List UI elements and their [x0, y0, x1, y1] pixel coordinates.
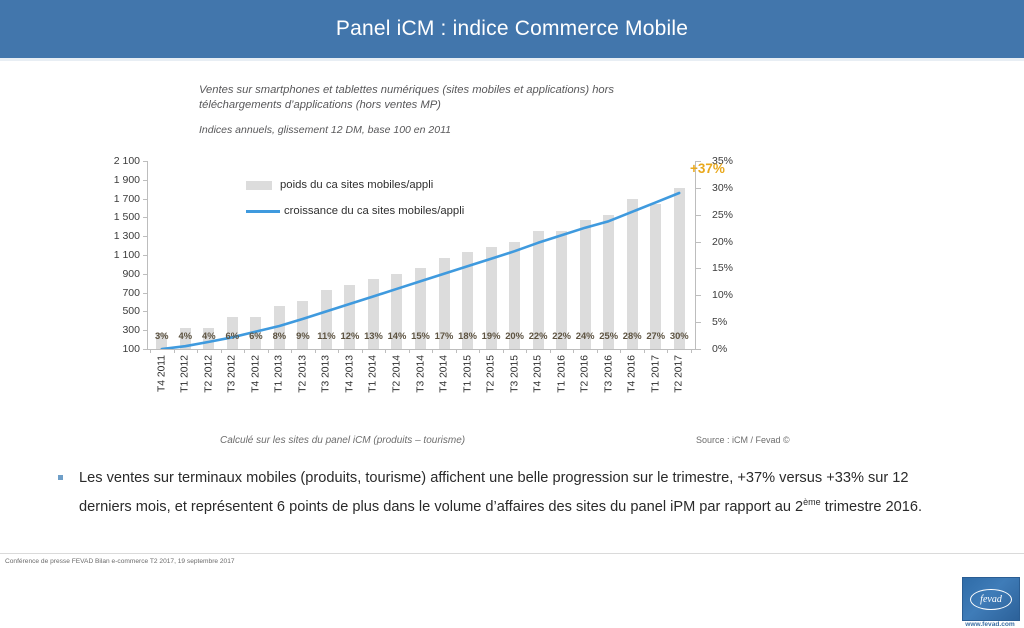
bullet-dot-icon [58, 475, 63, 480]
x-axis-tickmark [385, 349, 386, 353]
y-axis-left-tickmark [143, 199, 148, 200]
x-axis-tickmark [221, 349, 222, 353]
bar-value-label: 15% [411, 330, 430, 341]
bar-value-label: 18% [458, 330, 477, 341]
y-axis-left-tick: 1 700 [114, 193, 140, 205]
legend-item-poids: poids du ca sites mobiles/appli [246, 179, 464, 191]
y-axis-right-tickmark [696, 349, 701, 350]
x-axis-label: T1 2015 [462, 355, 473, 393]
y-axis-right-tickmark [696, 322, 701, 323]
bar-value-label: 22% [529, 330, 548, 341]
bullet-paragraph: Les ventes sur terminaux mobiles (produi… [58, 466, 948, 519]
y-axis-left-tick: 900 [122, 268, 140, 280]
x-axis-label: T1 2014 [368, 355, 379, 393]
bar-value-label: 20% [505, 330, 524, 341]
x-axis-label: T2 2014 [391, 355, 402, 393]
y-axis-left-tick: 300 [122, 324, 140, 336]
y-axis-right-tick: 15% [712, 262, 733, 274]
x-axis-label: T1 2016 [556, 355, 567, 393]
x-axis-label: T4 2014 [439, 355, 450, 393]
chart-footnote-left: Calculé sur les sites du panel iCM (prod… [220, 435, 465, 446]
x-axis-tickmark [409, 349, 410, 353]
y-axis-right-tickmark [696, 161, 701, 162]
x-axis-tickmark [644, 349, 645, 353]
y-axis-left-tick: 1 300 [114, 230, 140, 242]
y-axis-right-tickmark [696, 215, 701, 216]
y-axis-left: 2 1001 9001 7001 5001 3001 1009007005003… [92, 161, 146, 346]
y-axis-left-tick: 1 500 [114, 211, 140, 223]
y-axis-left-tickmark [143, 255, 148, 256]
bar-value-label: 6% [226, 330, 240, 341]
bar-value-label: 6% [249, 330, 263, 341]
legend-item-croissance: croissance du ca sites mobiles/appli [246, 205, 464, 217]
y-axis-left-tickmark [143, 217, 148, 218]
y-axis-left-tickmark [143, 274, 148, 275]
y-axis-left-tick: 1 100 [114, 249, 140, 261]
y-axis-right-tick: 20% [712, 236, 733, 248]
bar-value-label: 9% [296, 330, 310, 341]
x-axis-tickmark [244, 349, 245, 353]
footer-text: Conférence de presse FEVAD Bilan e-comme… [5, 558, 235, 565]
x-axis-tickmark [597, 349, 598, 353]
x-axis-label: T2 2012 [203, 355, 214, 393]
x-axis-tickmark [573, 349, 574, 353]
y-axis-right-tick: 30% [712, 182, 733, 194]
x-axis-label: T3 2012 [227, 355, 238, 393]
y-axis-left-tickmark [143, 293, 148, 294]
bar-value-label: 22% [552, 330, 571, 341]
slide-header-bar: Panel iCM : indice Commerce Mobile [0, 0, 1024, 58]
legend-label-croissance: croissance du ca sites mobiles/appli [284, 205, 464, 217]
bullet-text: Les ventes sur terminaux mobiles (produi… [79, 466, 941, 519]
x-axis-label: T1 2013 [274, 355, 285, 393]
x-axis-tickmark [503, 349, 504, 353]
y-axis-left-tickmark [143, 349, 148, 350]
bar-value-label: 8% [273, 330, 287, 341]
x-axis-label: T1 2012 [180, 355, 191, 393]
x-axis-label: T3 2014 [415, 355, 426, 393]
logo-wordmark: fevad [980, 594, 1002, 605]
x-axis-tickmark [197, 349, 198, 353]
x-axis-label: T3 2015 [509, 355, 520, 393]
y-axis-right-tickmark [696, 295, 701, 296]
x-axis-tickmark [620, 349, 621, 353]
x-axis-tickmark [338, 349, 339, 353]
y-axis-right-tickmark [696, 268, 701, 269]
x-axis-tickmark [526, 349, 527, 353]
bar-value-label: 4% [202, 330, 216, 341]
chart-source-note: Source : iCM / Fevad © [696, 435, 790, 445]
bar-value-label: 13% [364, 330, 383, 341]
x-axis-label: T4 2016 [627, 355, 638, 393]
y-axis-right-tickmark [696, 242, 701, 243]
x-axis-label: T4 2015 [533, 355, 544, 393]
bar-value-label: 28% [623, 330, 642, 341]
y-axis-left-tickmark [143, 236, 148, 237]
legend-line-swatch-icon [246, 210, 280, 213]
chart-legend: poids du ca sites mobiles/appli croissan… [246, 179, 464, 231]
y-axis-left-tick: 500 [122, 305, 140, 317]
y-axis-right-tick: 5% [712, 316, 727, 328]
x-axis-tickmark [315, 349, 316, 353]
fevad-logo: fevad [962, 577, 1020, 621]
y-axis-right-tick: 10% [712, 289, 733, 301]
bar-value-label: 4% [179, 330, 193, 341]
x-axis-tickmark [550, 349, 551, 353]
chart-subtitle: Indices annuels, glissement 12 DM, base … [199, 123, 669, 137]
bar-value-label: 17% [435, 330, 454, 341]
x-axis-label: T4 2012 [250, 355, 261, 393]
footer-divider [0, 553, 1024, 554]
y-axis-left-tick: 2 100 [114, 155, 140, 167]
x-axis-labels: T4 2011T1 2012T2 2012T3 2012T4 2012T1 20… [150, 355, 691, 417]
logo-oval-icon: fevad [970, 589, 1012, 610]
y-axis-left-tickmark [143, 161, 148, 162]
x-axis-tickmark [268, 349, 269, 353]
bar-value-label: 3% [155, 330, 169, 341]
x-axis-ticks [150, 349, 691, 354]
y-axis-right: 35%30%25%20%15%10%5%0% [698, 161, 758, 346]
y-axis-right-tickmark [696, 188, 701, 189]
bullet-text-part1: Les ventes sur terminaux mobiles (produi… [79, 470, 909, 515]
x-axis-tickmark [362, 349, 363, 353]
bullet-superscript: ème [803, 497, 821, 507]
x-axis-tickmark [150, 349, 151, 353]
x-axis-label: T3 2016 [603, 355, 614, 393]
bullet-text-part2: trimestre 2016. [821, 499, 922, 515]
y-axis-right-tick: 25% [712, 209, 733, 221]
x-axis-label: T3 2013 [321, 355, 332, 393]
bar-value-label: 25% [599, 330, 618, 341]
y-axis-left-tick: 1 900 [114, 174, 140, 186]
bar-value-label: 12% [341, 330, 360, 341]
x-axis-label: T4 2013 [344, 355, 355, 393]
y-axis-right-tick: 0% [712, 343, 727, 355]
y-axis-left-tick: 100 [122, 343, 140, 355]
x-axis-tickmark [667, 349, 668, 353]
chart-container: Ventes sur smartphones et tablettes numé… [150, 83, 830, 453]
bar-value-label: 14% [388, 330, 407, 341]
legend-bar-swatch-icon [246, 181, 272, 190]
bar-value-label: 30% [670, 330, 689, 341]
x-axis-label: T2 2013 [297, 355, 308, 393]
bar-value-label: 19% [482, 330, 501, 341]
legend-label-poids: poids du ca sites mobiles/appli [280, 179, 433, 191]
y-axis-left-tickmark [143, 180, 148, 181]
bar-value-label: 27% [646, 330, 665, 341]
x-axis-tickmark [432, 349, 433, 353]
bar-value-label: 11% [317, 330, 335, 341]
x-axis-label: T2 2017 [674, 355, 685, 393]
x-axis-tickmark [456, 349, 457, 353]
y-axis-left-tickmark [143, 311, 148, 312]
x-axis-label: T4 2011 [156, 355, 167, 392]
x-axis-tickmark [174, 349, 175, 353]
x-axis-tickmark [291, 349, 292, 353]
slide-body: Ventes sur smartphones et tablettes numé… [0, 61, 1024, 575]
x-axis-tickmark [479, 349, 480, 353]
y-axis-right-line [695, 161, 696, 349]
x-axis-label: T1 2017 [650, 355, 661, 393]
x-axis-label: T2 2015 [486, 355, 497, 393]
growth-annotation: +37% [690, 161, 725, 176]
y-axis-left-tickmark [143, 330, 148, 331]
y-axis-left-tick: 700 [122, 287, 140, 299]
logo-url: www.fevad.com [962, 621, 1018, 628]
x-axis-label: T2 2016 [580, 355, 591, 393]
bar-value-label: 24% [576, 330, 595, 341]
chart-title: Ventes sur smartphones et tablettes numé… [199, 83, 669, 113]
page-title: Panel iCM : indice Commerce Mobile [0, 0, 1024, 58]
x-axis-tickmark [691, 349, 692, 353]
